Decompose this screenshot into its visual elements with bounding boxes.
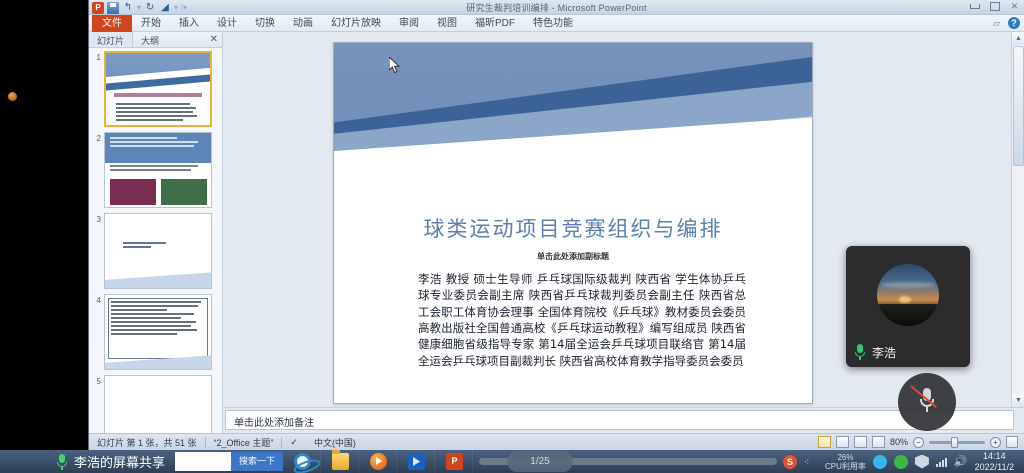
qq-icon[interactable]: [873, 455, 887, 469]
tab-foxit-pdf[interactable]: 福昕PDF: [466, 15, 524, 32]
sogou-input-icon[interactable]: S: [783, 455, 797, 469]
screen: P ↰ ▾ ↻ ◢ ▾ |▾ 研究生裁判培训编排 - Microsoft Pow…: [0, 0, 1024, 473]
zoom-level: 80%: [890, 437, 908, 447]
slide-vertical-scrollbar[interactable]: ▲ ▼: [1011, 32, 1024, 407]
ribbon-tabs: 文件 开始 插入 设计 切换 动画 幻灯片放映 审阅 视图 福昕PDF 特色功能: [89, 15, 1024, 32]
tab-features[interactable]: 特色功能: [524, 15, 582, 32]
search-button[interactable]: 搜索一下: [231, 452, 283, 471]
zoom-slider[interactable]: [929, 441, 985, 444]
fit-to-window-button[interactable]: [1006, 436, 1018, 448]
help-icon[interactable]: ?: [1008, 17, 1020, 29]
zoom-out-button[interactable]: −: [913, 437, 924, 448]
clock-date: 2022/11/2: [975, 462, 1014, 472]
language-indicator[interactable]: 中文(中国): [306, 436, 364, 449]
view-normal-button[interactable]: [818, 436, 831, 448]
thumbnail-list[interactable]: 1: [89, 48, 222, 433]
notes-input[interactable]: 单击此处添加备注: [225, 410, 1014, 430]
thumbnail-slide-2[interactable]: 2: [93, 132, 222, 208]
tab-file[interactable]: 文件: [92, 15, 132, 32]
avatar-ground: [877, 304, 939, 326]
minimize-button[interactable]: [969, 1, 980, 11]
tab-transitions[interactable]: 切换: [246, 15, 284, 32]
view-slide-sorter-button[interactable]: [836, 436, 849, 448]
close-icon[interactable]: ✕: [210, 34, 218, 46]
close-button[interactable]: ✕: [1009, 1, 1020, 11]
media-time: 1/25: [507, 451, 573, 472]
cpu-usage-indicator[interactable]: 26% CPU利用率: [825, 453, 866, 471]
cpu-usage-label: CPU利用率: [825, 462, 866, 471]
taskbar: 李浩的屏幕共享 搜索一下 P 1/25 S ⁖ 26% CPU利用率: [0, 450, 1024, 473]
tab-review[interactable]: 审阅: [390, 15, 428, 32]
tab-insert[interactable]: 插入: [170, 15, 208, 32]
cpu-usage-value: 26%: [837, 453, 853, 462]
tab-design[interactable]: 设计: [208, 15, 246, 32]
taskbar-app-icons[interactable]: P: [283, 450, 473, 473]
participant-name: 李浩: [872, 344, 896, 361]
desktop-background: [0, 0, 88, 450]
zoom-slider-handle[interactable]: [951, 437, 958, 448]
taskbar-item-blue-app[interactable]: [397, 450, 435, 473]
tab-view[interactable]: 视图: [428, 15, 466, 32]
thumbnail-number: 5: [93, 375, 104, 386]
thumb-text-lines: [116, 103, 200, 123]
restore-button[interactable]: [989, 1, 1000, 11]
system-tray[interactable]: S ⁖ 26% CPU利用率 🔊 14:14 2022/11/2: [783, 451, 1024, 473]
clock-time: 14:14: [983, 451, 1006, 461]
thumbnail-number: 3: [93, 213, 104, 224]
network-signal-icon[interactable]: [936, 456, 947, 467]
scrollbar-thumb[interactable]: [1013, 46, 1024, 166]
zoom-in-button[interactable]: +: [990, 437, 1001, 448]
thumbnail-slide-1[interactable]: 1: [93, 51, 222, 127]
thumbnail-slide-3[interactable]: 3: [93, 213, 222, 289]
thumbnail-number: 1: [93, 51, 104, 62]
tab-animations[interactable]: 动画: [284, 15, 322, 32]
taskbar-item-internet-explorer[interactable]: [283, 450, 321, 473]
video-participant-tile[interactable]: 李浩: [846, 246, 970, 367]
scroll-up-icon[interactable]: ▲: [1012, 32, 1024, 45]
slide-body-text[interactable]: 李浩 教授 硕士生导师 乒乓球国际级裁判 陕西省 学生体协乒乓球专业委员会副主席…: [418, 271, 746, 369]
thumbnail-preview[interactable]: [104, 294, 212, 370]
volume-icon[interactable]: 🔊: [954, 455, 968, 469]
status-right-group: 80% − +: [818, 436, 1024, 448]
window-title: 研究生裁判培训编排 - Microsoft PowerPoint: [89, 1, 1024, 14]
theme-name[interactable]: “2_Office 主题”: [206, 436, 282, 449]
thumbnail-preview[interactable]: [104, 51, 212, 127]
view-reading-button[interactable]: [854, 436, 867, 448]
green-app-icon[interactable]: [894, 455, 908, 469]
media-progress-bar[interactable]: 1/25: [479, 458, 777, 465]
slide-thumbnail-pane: 幻灯片 大纲 ✕ 1: [89, 32, 223, 433]
thumbnail-preview[interactable]: [104, 213, 212, 289]
tab-outline[interactable]: 大纲: [133, 32, 167, 47]
window-controls[interactable]: ✕: [969, 1, 1020, 11]
video-tile-footer: 李浩: [846, 337, 970, 367]
workspace: 幻灯片 大纲 ✕ 1: [89, 32, 1024, 433]
mute-toggle-button[interactable]: [898, 373, 956, 431]
thumbnail-preview[interactable]: [104, 132, 212, 208]
slide-counter: 幻灯片 第 1 张，共 51 张: [89, 436, 205, 449]
spellcheck-icon[interactable]: ✓: [282, 437, 306, 448]
slide-subtitle-placeholder[interactable]: 单击此处添加副标题: [334, 251, 812, 262]
thumbnail-number: 2: [93, 132, 104, 143]
view-slideshow-button[interactable]: [872, 436, 885, 448]
collapse-ribbon-icon[interactable]: ▱: [991, 18, 1002, 29]
thumbnail-slide-5[interactable]: 5: [93, 375, 222, 433]
taskbar-item-file-explorer[interactable]: [321, 450, 359, 473]
taskbar-item-media-player[interactable]: [359, 450, 397, 473]
security-shield-icon[interactable]: [915, 455, 929, 469]
thumbnail-number: 4: [93, 294, 104, 305]
title-bar: P ↰ ▾ ↻ ◢ ▾ |▾ 研究生裁判培训编排 - Microsoft Pow…: [89, 0, 1024, 15]
search-input[interactable]: 搜索一下: [175, 452, 283, 471]
share-microphone-icon: [56, 454, 68, 470]
ribbon-tab-bar: 文件 开始 插入 设计 切换 动画 幻灯片放映 审阅 视图 福昕PDF 特色功能: [89, 15, 1024, 32]
thumbnail-preview[interactable]: [104, 375, 212, 433]
screen-share-indicator[interactable]: 李浩的屏幕共享: [56, 452, 165, 471]
microphone-icon: [854, 344, 866, 360]
thumbnail-pane-tabs: 幻灯片 大纲 ✕: [89, 32, 222, 48]
tab-slideshow[interactable]: 幻灯片放映: [322, 15, 390, 32]
avatar: [877, 264, 939, 326]
avatar-sun: [899, 296, 911, 303]
ribbon-help-row: ▱ ?: [991, 17, 1020, 29]
slide-editor-area: 球类运动项目竞赛组织与编排 单击此处添加副标题 李浩 教授 硕士生导师 乒乓球国…: [223, 32, 1024, 433]
avatar-cloud: [881, 282, 935, 288]
thumb-title-line: [114, 93, 202, 97]
tab-home[interactable]: 开始: [132, 15, 170, 32]
status-bar: 幻灯片 第 1 张，共 51 张 “2_Office 主题” ✓ 中文(中国) …: [89, 433, 1024, 450]
tray-overflow-icon[interactable]: ⁖: [804, 455, 818, 469]
desktop-indicator-dot: [8, 92, 17, 101]
thumbnail-slide-4[interactable]: 4: [93, 294, 222, 370]
powerpoint-window: P ↰ ▾ ↻ ◢ ▾ |▾ 研究生裁判培训编排 - Microsoft Pow…: [88, 0, 1024, 450]
share-label: 李浩的屏幕共享: [74, 452, 165, 471]
tab-slides-thumbnails[interactable]: 幻灯片: [89, 32, 133, 47]
taskbar-item-powerpoint[interactable]: P: [435, 450, 473, 473]
slide-canvas[interactable]: 球类运动项目竞赛组织与编排 单击此处添加副标题 李浩 教授 硕士生导师 乒乓球国…: [333, 42, 813, 404]
slide-title[interactable]: 球类运动项目竞赛组织与编排: [334, 213, 812, 243]
clock[interactable]: 14:14 2022/11/2: [975, 451, 1020, 473]
scroll-down-icon[interactable]: ▼: [1012, 394, 1024, 407]
